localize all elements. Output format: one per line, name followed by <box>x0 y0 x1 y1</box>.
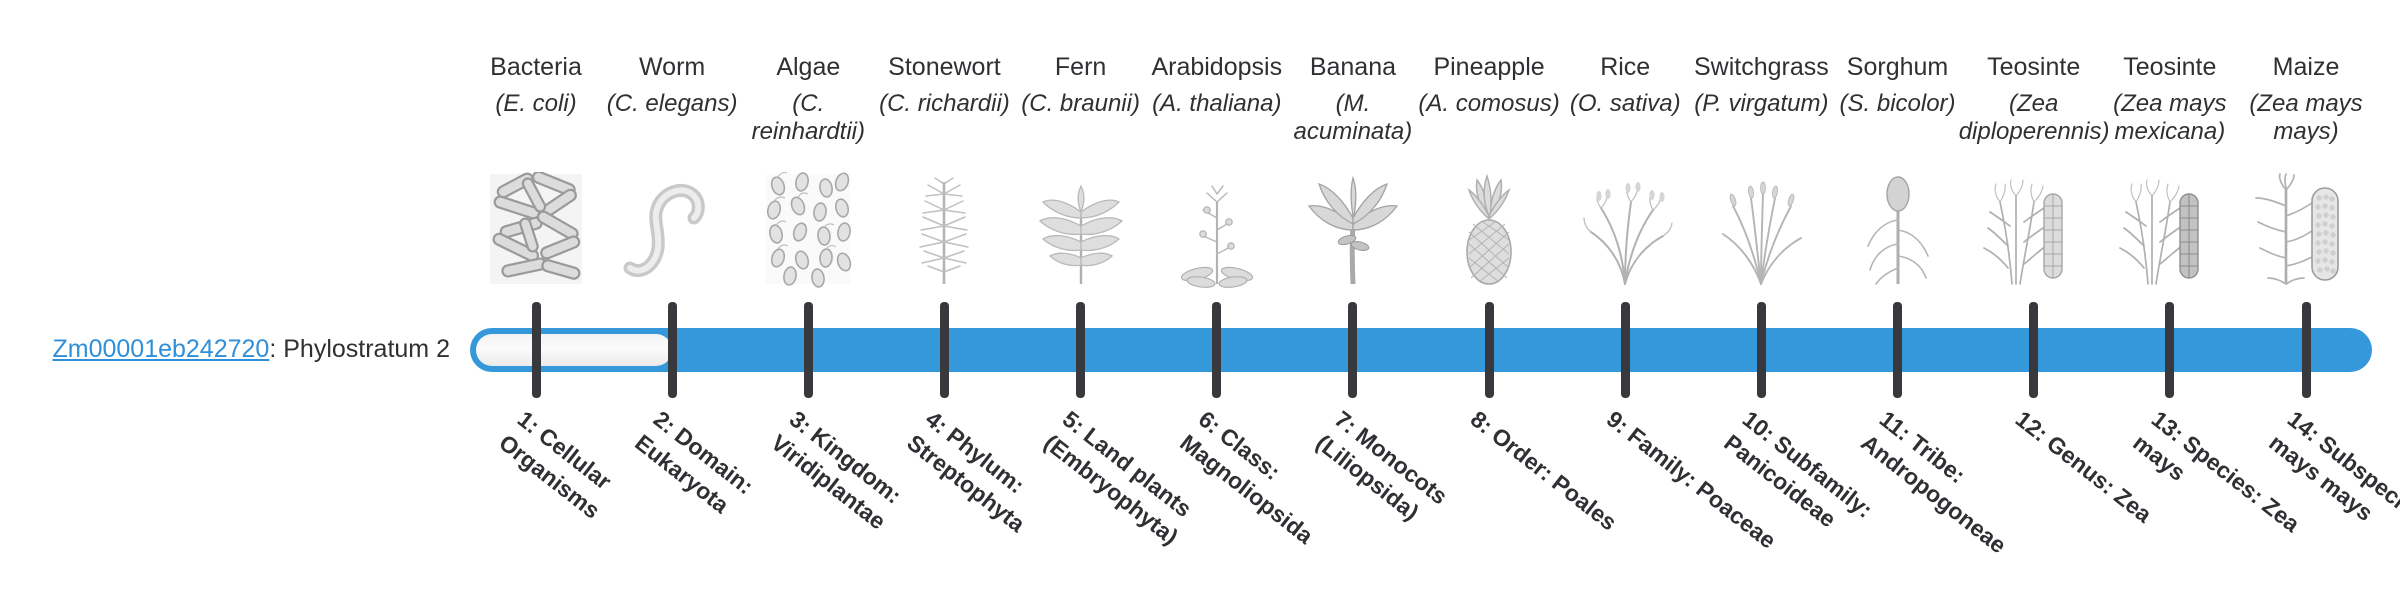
organism-column: Stonewort(C. richardii) <box>869 52 1019 146</box>
organism-column: Pineapple(A. comosus) <box>1414 52 1564 146</box>
gene-phylostratum-label: Zm00001eb242720: Phylostratum 2 <box>38 334 450 364</box>
stage-tick[interactable] <box>2165 302 2174 398</box>
organism-column: Sorghum(S. bicolor) <box>1823 52 1973 146</box>
organism-column: Fern(C. braunii) <box>1006 52 1156 146</box>
organism-column: Arabidopsis(A. thaliana) <box>1142 52 1292 146</box>
algae-icon <box>733 172 883 288</box>
stage-tick[interactable] <box>1621 302 1630 398</box>
organism-column: Rice(O. sativa) <box>1550 52 1700 146</box>
organism-scientific-name: (M. acuminata) <box>1278 90 1428 146</box>
organism-scientific-name: (C. reinhardtii) <box>733 90 883 146</box>
organism-common-name: Switchgrass <box>1686 52 1836 82</box>
fern-icon <box>1006 172 1156 288</box>
organism-column: Banana(M. acuminata) <box>1278 52 1428 146</box>
stage-tick[interactable] <box>668 302 677 398</box>
organism-column: Teosinte(Zea mays mexicana) <box>2095 52 2245 146</box>
organism-column: Teosinte(Zea diploperennis) <box>1959 52 2109 146</box>
gene-id-link[interactable]: Zm00001eb242720 <box>52 335 269 363</box>
organism-column: Algae(C. reinhardtii) <box>733 52 883 146</box>
stage-tick[interactable] <box>1348 302 1357 398</box>
organism-common-name: Sorghum <box>1823 52 1973 82</box>
arabidopsis-icon <box>1142 172 1292 288</box>
organism-common-name: Fern <box>1006 52 1156 82</box>
organism-common-name: Maize <box>2231 52 2381 82</box>
organism-column: Switchgrass(P. virgatum) <box>1686 52 1836 146</box>
stonewort-icon <box>869 172 1019 288</box>
stage-tick[interactable] <box>940 302 949 398</box>
stage-tick[interactable] <box>1485 302 1494 398</box>
organism-common-name: Arabidopsis <box>1142 52 1292 82</box>
organism-scientific-name: (C. richardii) <box>869 90 1019 146</box>
bacteria-icon <box>461 172 611 288</box>
stage-tick[interactable] <box>1212 302 1221 398</box>
organism-scientific-name: (Zea mays mexicana) <box>2095 90 2245 146</box>
switchgrass-icon <box>1686 172 1836 288</box>
organism-column: Worm(C. elegans) <box>597 52 747 146</box>
pineapple-icon <box>1414 172 1564 288</box>
organism-scientific-name: (E. coli) <box>461 90 611 146</box>
maize-icon <box>2231 172 2381 288</box>
sorghum-icon <box>1823 172 1973 288</box>
stage-tick[interactable] <box>2302 302 2311 398</box>
stage-tick[interactable] <box>1757 302 1766 398</box>
organism-common-name: Teosinte <box>2095 52 2245 82</box>
worm-icon <box>597 172 747 288</box>
organism-common-name: Bacteria <box>461 52 611 82</box>
organism-scientific-name: (O. sativa) <box>1550 90 1700 146</box>
organism-scientific-name: (C. braunii) <box>1006 90 1156 146</box>
stage-tick[interactable] <box>1076 302 1085 398</box>
organism-scientific-name: (A. thaliana) <box>1142 90 1292 146</box>
banana-icon <box>1278 172 1428 288</box>
progress-unfilled-region <box>476 334 672 366</box>
organism-scientific-name: (Zea mays mays) <box>2231 90 2381 146</box>
gene-label-separator: : <box>269 335 283 363</box>
teosinte-mexicana-icon <box>2095 172 2245 288</box>
organism-common-name: Rice <box>1550 52 1700 82</box>
teosinte-diploperennis-icon <box>1959 172 2109 288</box>
phylostratum-progress-bar[interactable] <box>470 328 2372 372</box>
phylostratum-timeline: Zm00001eb242720: Phylostratum 2 Bacteria… <box>0 0 2400 580</box>
organism-common-name: Teosinte <box>1959 52 2109 82</box>
organism-scientific-name: (P. virgatum) <box>1686 90 1836 146</box>
organism-common-name: Stonewort <box>869 52 1019 82</box>
phylostratum-value: Phylostratum 2 <box>283 335 450 363</box>
organism-scientific-name: (S. bicolor) <box>1823 90 1973 146</box>
stage-tick[interactable] <box>804 302 813 398</box>
stage-tick[interactable] <box>1893 302 1902 398</box>
organism-scientific-name: (A. comosus) <box>1414 90 1564 146</box>
organism-column: Maize(Zea mays mays) <box>2231 52 2381 146</box>
organism-common-name: Algae <box>733 52 883 82</box>
organism-scientific-name: (Zea diploperennis) <box>1959 90 2109 146</box>
rice-icon <box>1550 172 1700 288</box>
organism-column: Bacteria(E. coli) <box>461 52 611 146</box>
organism-common-name: Pineapple <box>1414 52 1564 82</box>
stage-tick[interactable] <box>532 302 541 398</box>
organism-common-name: Banana <box>1278 52 1428 82</box>
organism-common-name: Worm <box>597 52 747 82</box>
organism-scientific-name: (C. elegans) <box>597 90 747 146</box>
stage-tick[interactable] <box>2029 302 2038 398</box>
